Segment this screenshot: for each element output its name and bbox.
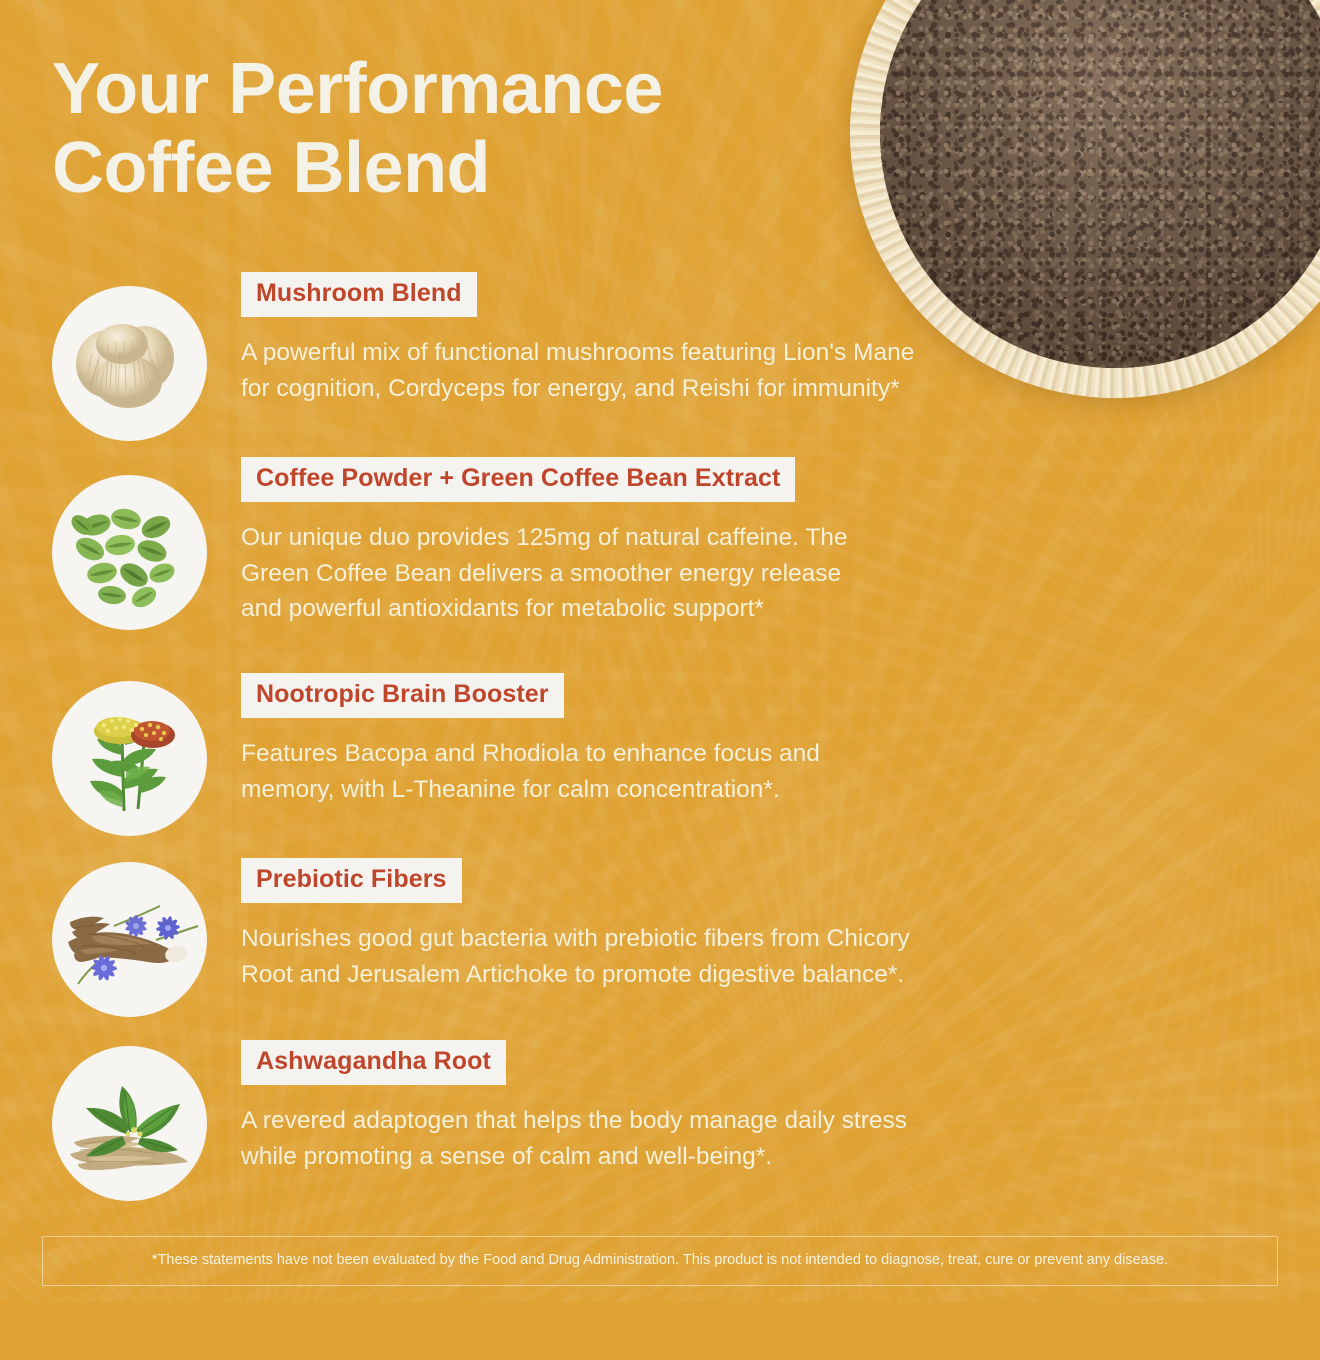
page-title-line-2: Coffee Blend <box>52 128 490 208</box>
lions-mane-mushroom-photo <box>52 286 207 441</box>
rhodiola-plant-photo <box>52 681 207 836</box>
ingredient-heading: Ashwagandha Root <box>241 1040 506 1085</box>
ingredient-text-block: Ashwagandha Root A revered adaptogen tha… <box>241 1040 1320 1174</box>
ingredient-thumbnail-chicory-root <box>52 862 207 1017</box>
ingredient-thumbnail-ashwagandha <box>52 1046 207 1201</box>
ingredient-heading: Nootropic Brain Booster <box>241 673 564 718</box>
ingredient-description: Nourishes good gut bacteria with prebiot… <box>241 921 1260 992</box>
ingredient-list: Mushroom Blend A powerful mix of functio… <box>0 272 1320 1222</box>
page-title: Your Performance Coffee Blend <box>52 50 882 208</box>
list-item: Mushroom Blend A powerful mix of functio… <box>0 272 1320 457</box>
ingredient-heading: Coffee Powder + Green Coffee Bean Extrac… <box>241 457 795 502</box>
ingredient-description: A powerful mix of functional mushrooms f… <box>241 335 1260 406</box>
ingredient-text-block: Mushroom Blend A powerful mix of functio… <box>241 272 1320 406</box>
ingredient-thumbnail-green-coffee-beans <box>52 475 207 630</box>
ingredient-thumbnail-rhodiola <box>52 681 207 836</box>
green-coffee-beans-photo <box>52 475 207 630</box>
ingredient-description: Features Bacopa and Rhodiola to enhance … <box>241 736 1260 807</box>
ingredient-thumbnail-lions-mane <box>52 286 207 441</box>
ingredient-text-block: Nootropic Brain Booster Features Bacopa … <box>241 673 1320 807</box>
list-item: Coffee Powder + Green Coffee Bean Extrac… <box>0 457 1320 673</box>
fda-disclaimer-box: *These statements have not been evaluate… <box>42 1236 1278 1286</box>
ashwagandha-root-photo <box>52 1046 207 1201</box>
page-title-line-1: Your Performance <box>52 49 663 129</box>
chicory-root-photo <box>52 862 207 1017</box>
ingredient-heading: Mushroom Blend <box>241 272 477 317</box>
fda-disclaimer-text: *These statements have not been evaluate… <box>138 1252 1182 1269</box>
list-item: Prebiotic Fibers Nourishes good gut bact… <box>0 858 1320 1040</box>
ingredient-description: Our unique duo provides 125mg of natural… <box>241 520 1260 627</box>
ingredient-description: A revered adaptogen that helps the body … <box>241 1103 1260 1174</box>
ingredient-heading: Prebiotic Fibers <box>241 858 462 903</box>
ingredient-text-block: Coffee Powder + Green Coffee Bean Extrac… <box>241 457 1320 627</box>
ingredient-text-block: Prebiotic Fibers Nourishes good gut bact… <box>241 858 1320 992</box>
list-item: Nootropic Brain Booster Features Bacopa … <box>0 673 1320 858</box>
list-item: Ashwagandha Root A revered adaptogen tha… <box>0 1040 1320 1222</box>
